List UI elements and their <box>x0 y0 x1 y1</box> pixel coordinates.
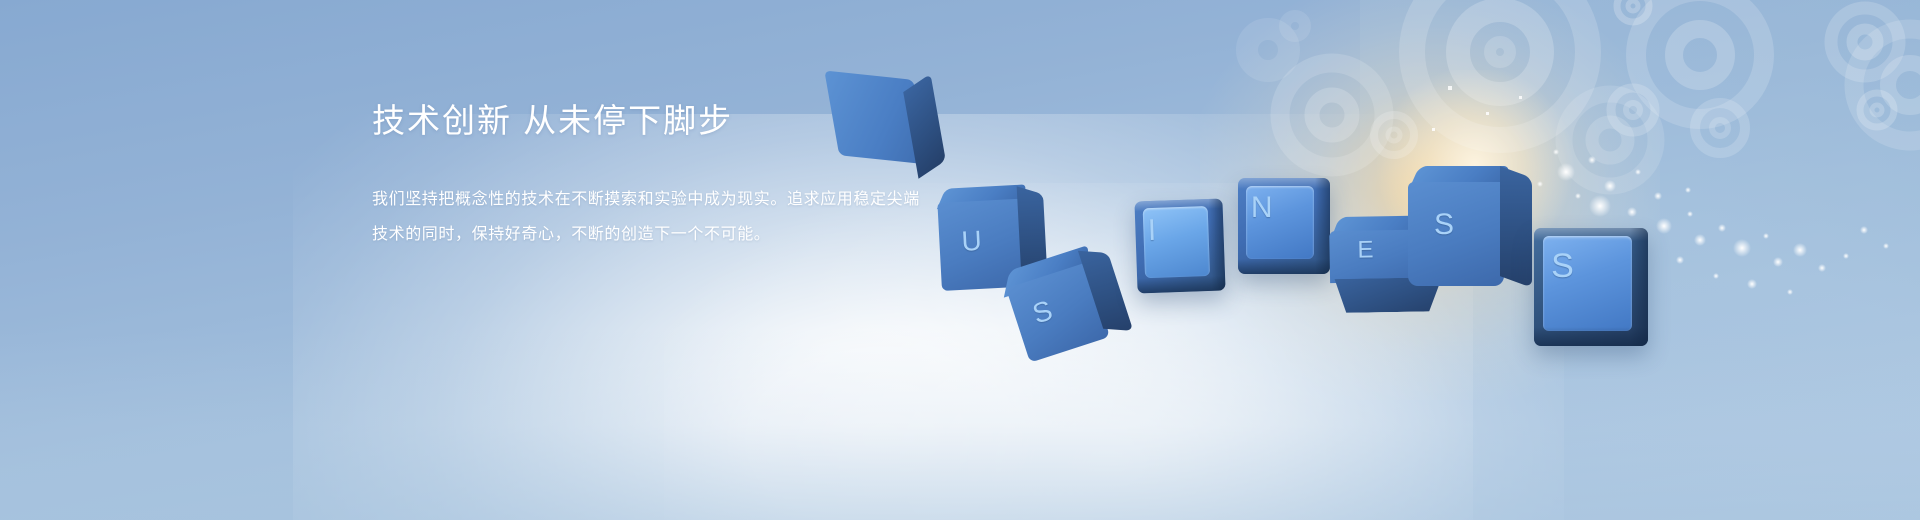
keycap-label: I <box>1147 216 1156 246</box>
keycap-label: E <box>1357 238 1373 262</box>
keycap-bottom-shade <box>1534 327 1648 346</box>
keycap-i: I <box>1134 198 1225 293</box>
page-title: 技术创新 从未停下脚步 <box>372 100 1072 141</box>
keycap-label: S <box>1434 210 1454 240</box>
keycap-s-3: S <box>1534 228 1648 346</box>
keycap-label: N <box>1251 193 1273 223</box>
keycap-label: S <box>1551 249 1574 283</box>
subcopy-line-2: 技术的同时，保持好奇心，不断的创造下一个不可能。 <box>372 218 1072 252</box>
cube-front-face <box>1408 182 1504 286</box>
copy-block: 技术创新 从未停下脚步 我们坚持把概念性的技术在不断摸索和实验中成为现实。追求应… <box>372 100 1072 252</box>
cube-side-face <box>1500 166 1532 288</box>
subcopy-line-1: 我们坚持把概念性的技术在不断摸索和实验中成为现实。追求应用稳定尖端 <box>372 183 1072 217</box>
subcopy: 我们坚持把概念性的技术在不断摸索和实验中成为现实。追求应用稳定尖端 技术的同时，… <box>372 183 1072 252</box>
hero-banner: 技术创新 从未停下脚步 我们坚持把概念性的技术在不断摸索和实验中成为现实。追求应… <box>0 0 1920 520</box>
keycap-s-2: S <box>1408 166 1548 316</box>
keycap-n: N <box>1238 178 1330 274</box>
keycap-bottom-shade <box>1238 259 1330 274</box>
keycap-bottom-shade <box>1137 276 1225 294</box>
keycap-group: U S I N E <box>0 0 1920 520</box>
